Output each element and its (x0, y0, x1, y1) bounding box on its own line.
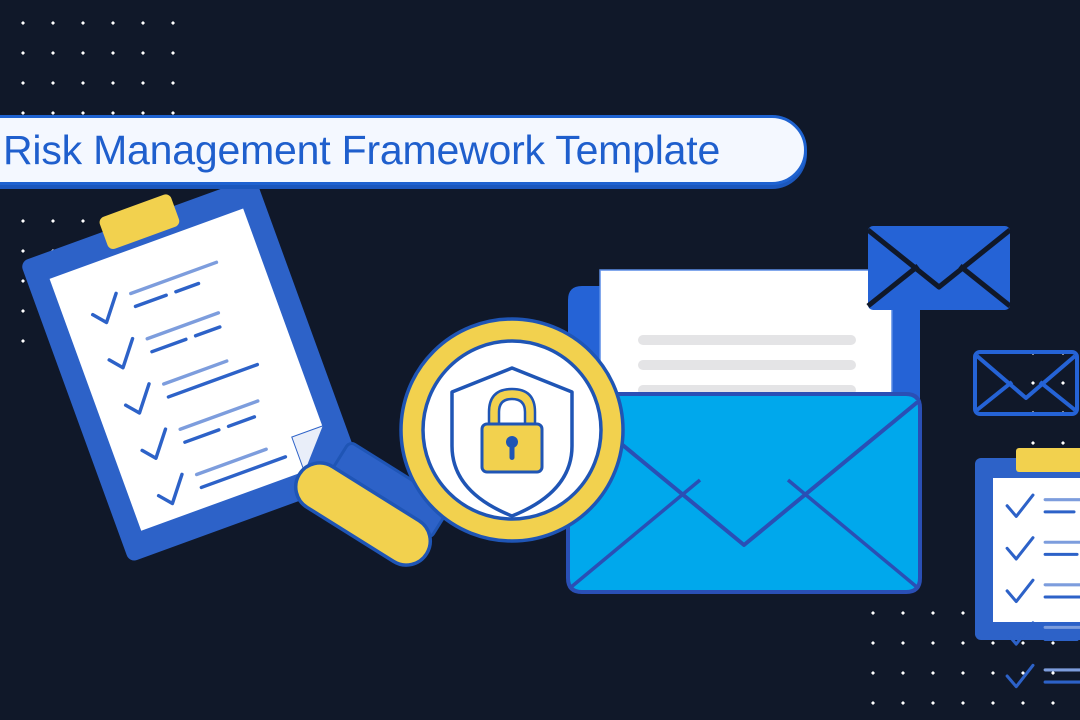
envelope-solid-body (868, 226, 1010, 310)
security-illustration (0, 0, 1080, 720)
envelope-solid-small (868, 226, 1010, 310)
envelope-outline-fold-right (1040, 382, 1075, 410)
letter-text-line (638, 360, 856, 370)
illustration-canvas: Risk Management Framework Template (0, 0, 1080, 720)
clipboard-right-clip (1016, 448, 1080, 472)
envelope-outline-body (975, 352, 1077, 414)
envelope-outline-fold-left (977, 382, 1012, 410)
page-title: Risk Management Framework Template (3, 127, 720, 174)
envelope-outline-flap (977, 356, 1075, 398)
letter-text-line (638, 335, 856, 345)
clipboard-right (975, 448, 1080, 687)
page-title-pill: Risk Management Framework Template (0, 115, 807, 185)
lock-keyhole-stem (510, 444, 515, 460)
envelope-outline-small (975, 352, 1077, 414)
